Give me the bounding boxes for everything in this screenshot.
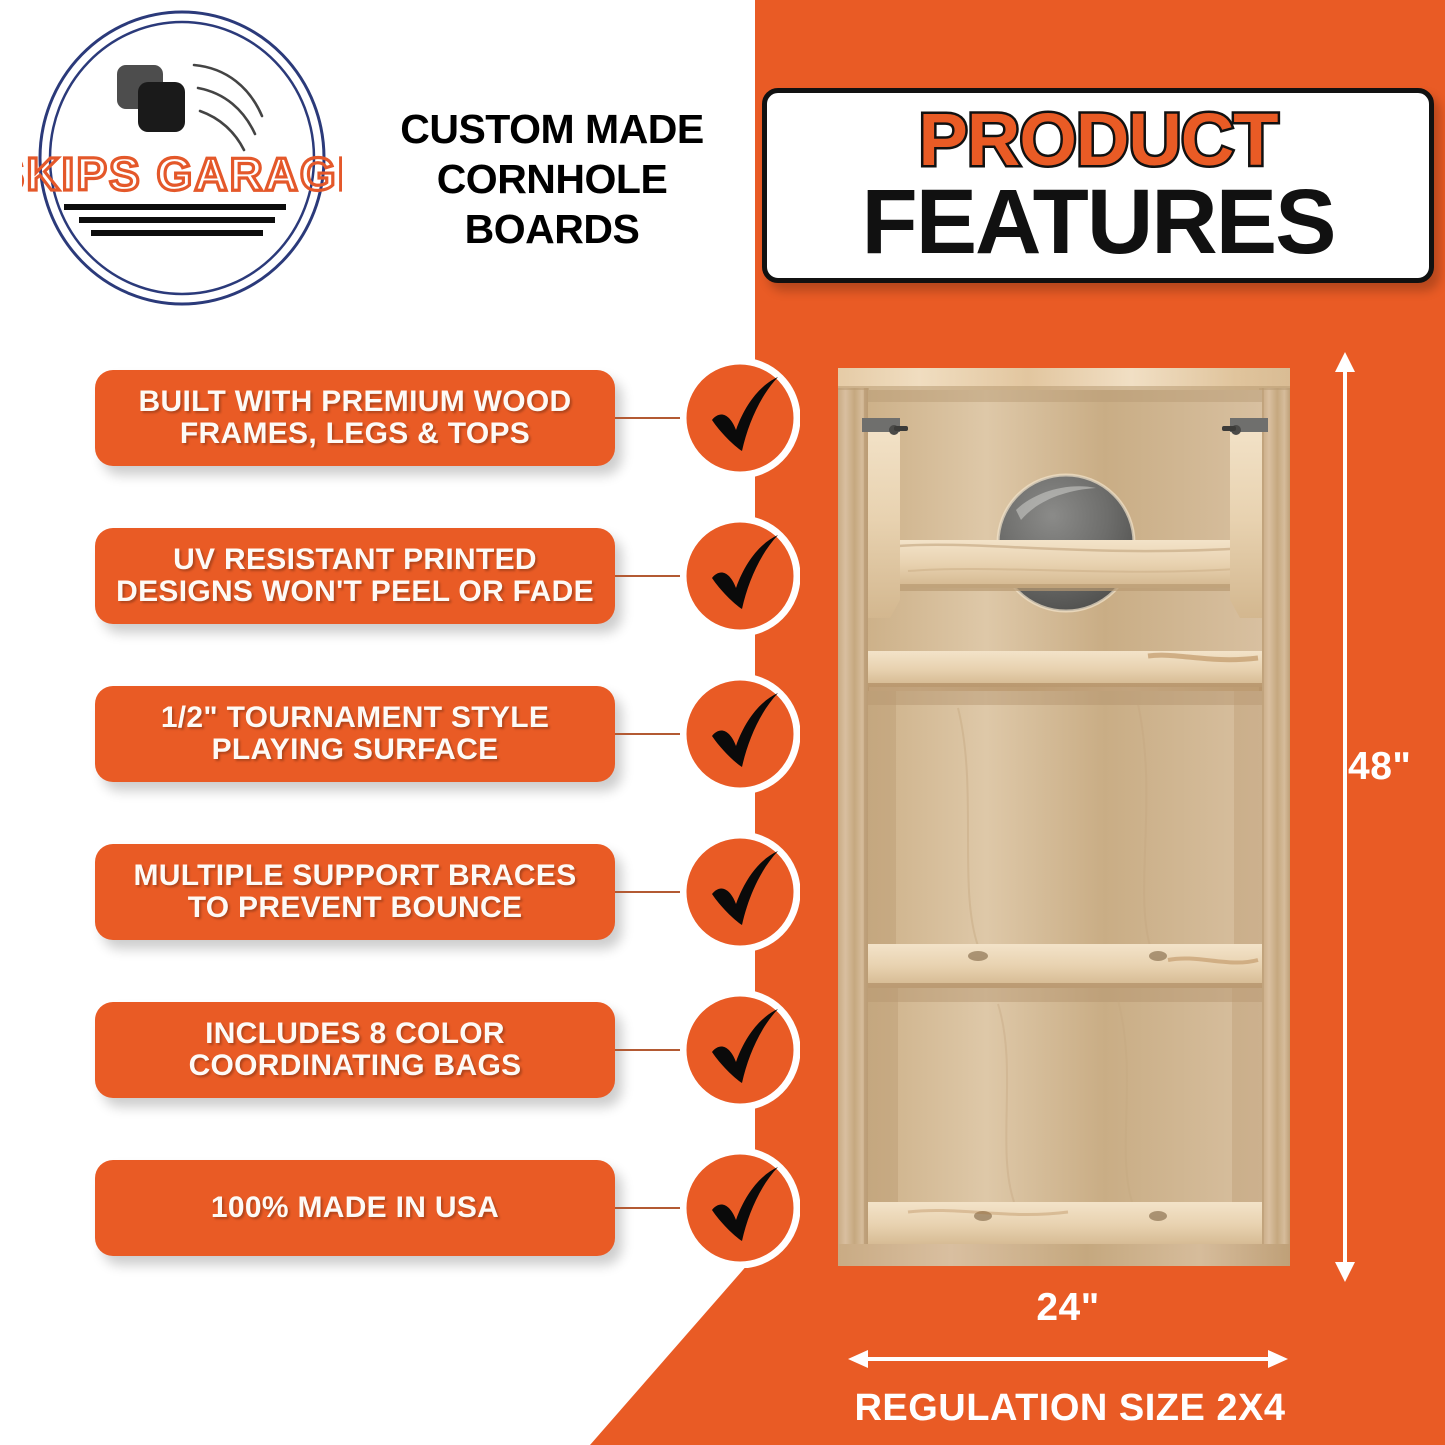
feature-row: 1/2" TOURNAMENT STYLE PLAYING SURFACE: [0, 686, 830, 806]
width-dimension-label: 24": [848, 1286, 1288, 1330]
banner-word-features: FEATURES: [862, 177, 1335, 267]
checkmark-icon: [680, 1148, 800, 1268]
headline-line-1: CUSTOM MADE: [352, 104, 752, 154]
page-title: CUSTOM MADE CORNHOLE BOARDS: [352, 104, 752, 254]
feature-pill: 1/2" TOURNAMENT STYLE PLAYING SURFACE: [95, 686, 615, 782]
double-arrow-horizontal-icon: [848, 1348, 1288, 1370]
feature-pill: 100% MADE IN USA: [95, 1160, 615, 1256]
banner-word-product: PRODUCT: [919, 104, 1278, 175]
feature-row: UV RESISTANT PRINTED DESIGNS WON'T PEEL …: [0, 528, 830, 648]
feature-row: INCLUDES 8 COLOR COORDINATING BAGS: [0, 1002, 830, 1122]
feature-label: 1/2" TOURNAMENT STYLE PLAYING SURFACE: [113, 702, 597, 767]
height-dimension-label: 48": [1348, 745, 1411, 789]
feature-label: MULTIPLE SUPPORT BRACES TO PREVENT BOUNC…: [113, 860, 597, 925]
feature-pill: MULTIPLE SUPPORT BRACES TO PREVENT BOUNC…: [95, 844, 615, 940]
feature-pill: UV RESISTANT PRINTED DESIGNS WON'T PEEL …: [95, 528, 615, 624]
checkmark-icon: [680, 358, 800, 478]
product-features-banner: PRODUCT FEATURES: [762, 88, 1434, 283]
feature-row: 100% MADE IN USA: [0, 1160, 830, 1280]
feature-row: BUILT WITH PREMIUM WOOD FRAMES, LEGS & T…: [0, 370, 830, 490]
headline-line-3: BOARDS: [352, 204, 752, 254]
regulation-size-label: REGULATION SIZE 2X4: [790, 1387, 1350, 1430]
headline-line-2: CORNHOLE: [352, 154, 752, 204]
feature-row: MULTIPLE SUPPORT BRACES TO PREVENT BOUNC…: [0, 844, 830, 964]
product-photo: [838, 368, 1290, 1266]
checkmark-icon: [680, 832, 800, 952]
feature-label: INCLUDES 8 COLOR COORDINATING BAGS: [113, 1018, 597, 1083]
brand-logo: SKIPS GARAGE: [22, 8, 342, 308]
feature-pill: INCLUDES 8 COLOR COORDINATING BAGS: [95, 1002, 615, 1098]
feature-label: BUILT WITH PREMIUM WOOD FRAMES, LEGS & T…: [113, 386, 597, 451]
checkmark-icon: [680, 674, 800, 794]
double-arrow-vertical-icon: [1330, 352, 1360, 1282]
checkmark-icon: [680, 516, 800, 636]
feature-label: 100% MADE IN USA: [211, 1192, 499, 1224]
checkmark-icon: [680, 990, 800, 1110]
brand-wordmark: SKIPS GARAGE: [22, 148, 342, 200]
feature-pill: BUILT WITH PREMIUM WOOD FRAMES, LEGS & T…: [95, 370, 615, 466]
feature-label: UV RESISTANT PRINTED DESIGNS WON'T PEEL …: [113, 544, 597, 609]
infographic-canvas: SKIPS GARAGE CUSTOM MADE CORNHOLE BOARDS…: [0, 0, 1445, 1445]
